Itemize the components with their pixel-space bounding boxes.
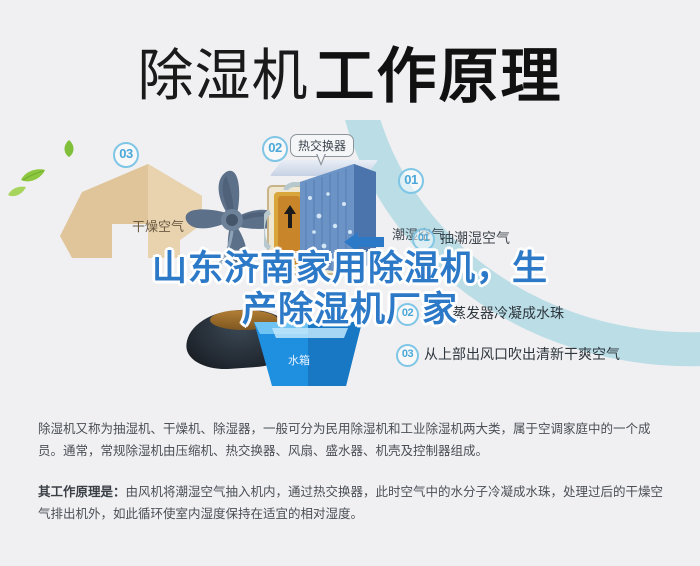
heat-exchanger-callout: 热交换器 [290, 134, 354, 157]
step-badge-inline-01: 01 [412, 228, 435, 251]
working-principle-illustration: 干燥空气 03 [0, 120, 700, 400]
humid-air-intake-arrow [344, 232, 384, 252]
step-badge-inline-03: 03 [396, 344, 419, 367]
step-line-01: 01抽潮湿空气 [412, 228, 510, 251]
description-paragraph-2: 其工作原理是：由风机将潮湿空气抽入机内，通过热交换器，此时空气中的水分子冷凝成水… [38, 481, 666, 525]
description-text: 除湿机又称为抽湿机、干燥机、除湿器，一般可分为民用除湿机和工业除湿机两大类，属于… [38, 418, 666, 525]
heat-exchanger-block [300, 164, 376, 274]
leaf-icon [8, 186, 26, 198]
step-badge-02: 02 [262, 136, 288, 162]
page-title-part1: 除湿机 [138, 44, 309, 107]
description-paragraph-2-rest: 由风机将潮湿空气抽入机内，通过热交换器，此时空气中的水分子冷凝成水珠，处理过后的… [38, 485, 663, 521]
water-tank-label: 水箱 [288, 352, 310, 368]
page-title-part2: 工作原理 [315, 43, 563, 110]
page-title: 除湿机工作原理 [0, 28, 700, 115]
step-line-02: 02经过蒸发器冷凝成水珠 [396, 303, 564, 326]
leaf-icon [20, 168, 46, 184]
step-line-03-text: 从上部出风口吹出清新干爽空气 [424, 346, 620, 362]
step-badge-03: 03 [113, 142, 139, 168]
callout-tail-inner [317, 153, 325, 163]
description-paragraph-1: 除湿机又称为抽湿机、干燥机、除湿器，一般可分为民用除湿机和工业除湿机两大类，属于… [38, 418, 666, 462]
step-line-03: 03从上部出风口吹出清新干爽空气 [396, 344, 620, 367]
step-badge-01: 01 [398, 168, 424, 194]
step-badge-inline-02: 02 [396, 303, 419, 326]
description-paragraph-2-lead: 其工作原理是： [38, 485, 126, 499]
step-line-01-text: 抽潮湿空气 [440, 230, 510, 246]
step-line-02-text: 经过蒸发器冷凝成水珠 [424, 305, 564, 321]
leaf-icon [62, 140, 76, 157]
poster-root: 除湿机工作原理 [0, 0, 700, 566]
